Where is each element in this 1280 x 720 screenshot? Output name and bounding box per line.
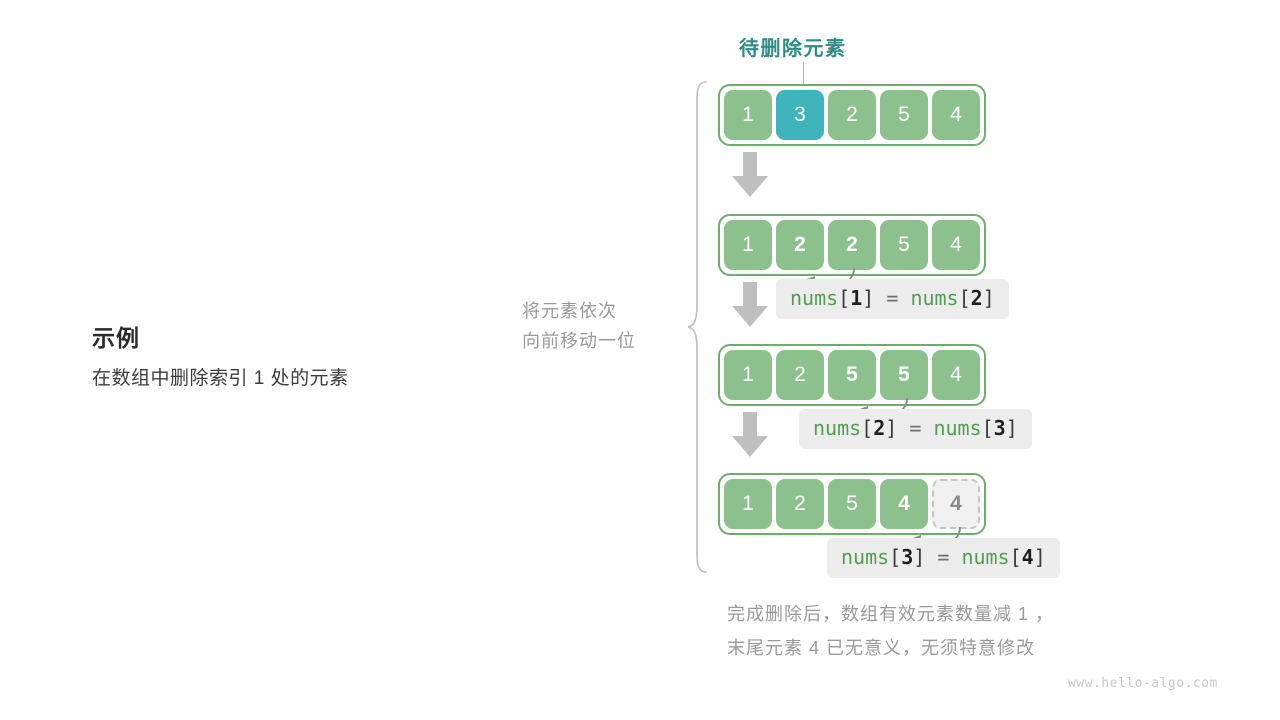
code-array-name: nums [790, 286, 838, 310]
array-cell[interactable]: 5 [880, 90, 928, 140]
flow-down-arrow-3 [730, 412, 770, 463]
conclusion-note-line2: 末尾元素 4 已无意义，无须特意修改 [727, 631, 1054, 665]
array-cell[interactable]: 1 [724, 350, 772, 400]
code-dst-index: 1 [850, 286, 862, 310]
code-array-name: nums [933, 416, 981, 440]
conclusion-note: 完成删除后，数组有效元素数量减 1 ， 末尾元素 4 已无意义，无须特意修改 [727, 597, 1054, 665]
array-cell-updated[interactable]: 5 [828, 350, 876, 400]
code-bracket-open: [ [959, 286, 971, 310]
grouping-brace [686, 80, 708, 579]
array-cell[interactable]: 5 [880, 220, 928, 270]
array-cell[interactable]: 4 [932, 90, 980, 140]
site-watermark: www.hello-algo.com [1068, 676, 1218, 691]
code-operator: = [897, 416, 933, 440]
code-src-index: 3 [994, 416, 1006, 440]
shift-annotation: 将元素依次 向前移动一位 [522, 297, 636, 356]
example-subtitle: 在数组中删除索引 1 处的元素 [92, 367, 349, 392]
code-src-index: 4 [1022, 545, 1034, 569]
array-cell[interactable]: 4 [932, 350, 980, 400]
code-bracket-close: ] [862, 286, 874, 310]
code-label-2: nums[2] = nums[3] [799, 409, 1032, 449]
array-cell[interactable]: 4 [932, 220, 980, 270]
shift-annotation-line2: 向前移动一位 [522, 327, 636, 357]
code-bracket-open: [ [861, 416, 873, 440]
example-caption: 示例 在数组中删除索引 1 处的元素 [92, 325, 349, 391]
array-cell[interactable]: 1 [724, 220, 772, 270]
diagram-canvas: 示例 在数组中删除索引 1 处的元素 将元素依次 向前移动一位 待删除元素 1 … [0, 0, 1280, 720]
code-bracket-close: ] [1034, 545, 1046, 569]
array-cell-highlighted[interactable]: 3 [776, 90, 824, 140]
array-cell[interactable]: 5 [828, 479, 876, 529]
array-cell[interactable]: 2 [776, 479, 824, 529]
array-row-initial: 1 3 2 5 4 [718, 84, 986, 146]
array-cell[interactable]: 2 [828, 90, 876, 140]
array-cell-invalid-tail[interactable]: 4 [932, 479, 980, 529]
array-cell-updated[interactable]: 2 [776, 220, 824, 270]
flow-down-arrow-2 [730, 282, 770, 333]
code-bracket-close: ] [983, 286, 995, 310]
flow-down-arrow-1 [730, 152, 770, 203]
code-bracket-close: ] [913, 545, 925, 569]
code-label-1: nums[1] = nums[2] [776, 279, 1009, 319]
code-dst-index: 3 [901, 545, 913, 569]
array-cell[interactable]: 1 [724, 90, 772, 140]
code-array-name: nums [841, 545, 889, 569]
array-cell-updated[interactable]: 4 [880, 479, 928, 529]
code-label-3: nums[3] = nums[4] [827, 538, 1060, 578]
code-bracket-open: [ [838, 286, 850, 310]
code-src-index: 2 [971, 286, 983, 310]
code-array-name: nums [961, 545, 1009, 569]
code-array-name: nums [910, 286, 958, 310]
code-operator: = [874, 286, 910, 310]
code-bracket-close: ] [885, 416, 897, 440]
array-cell-source[interactable]: 5 [880, 350, 928, 400]
code-array-name: nums [813, 416, 861, 440]
shift-annotation-line1: 将元素依次 [522, 297, 636, 327]
conclusion-note-line1: 完成删除后，数组有效元素数量减 1 ， [727, 597, 1054, 631]
code-operator: = [925, 545, 961, 569]
array-cell[interactable]: 1 [724, 479, 772, 529]
array-cell[interactable]: 2 [776, 350, 824, 400]
code-bracket-open: [ [889, 545, 901, 569]
delete-target-label: 待删除元素 [739, 32, 847, 61]
code-bracket-open: [ [1010, 545, 1022, 569]
code-bracket-open: [ [982, 416, 994, 440]
array-cell-source[interactable]: 2 [828, 220, 876, 270]
code-bracket-close: ] [1006, 416, 1018, 440]
code-dst-index: 2 [873, 416, 885, 440]
example-title: 示例 [92, 325, 349, 353]
